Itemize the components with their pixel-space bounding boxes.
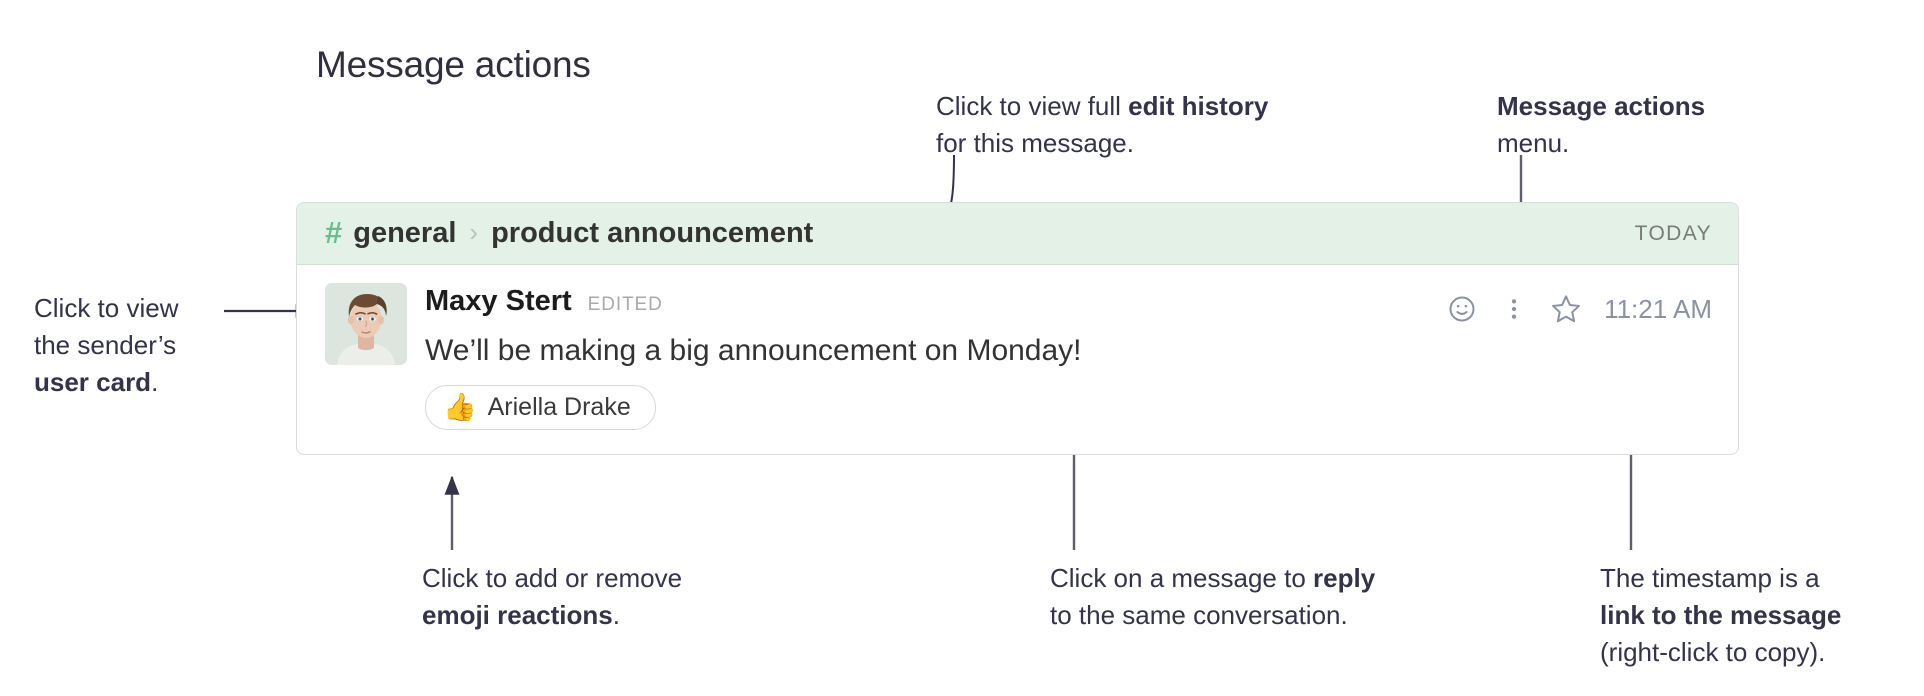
page-title: Message actions [316, 44, 591, 86]
annotation-message-actions-line1-bold: Message actions [1497, 91, 1705, 121]
annotation-user-card-line3-suffix: . [151, 367, 158, 397]
reaction-row: 👍 Ariella Drake [425, 385, 1712, 430]
annotation-edit-history-line1-bold: edit history [1128, 91, 1268, 121]
breadcrumb-topic[interactable]: product announcement [491, 217, 813, 250]
annotation-timestamp-line1: The timestamp is a [1600, 560, 1841, 597]
annotation-user-card-line3-bold: user card [34, 367, 151, 397]
emoji-reaction-icon[interactable] [1436, 287, 1488, 331]
message-text[interactable]: We’ll be making a big announcement on Mo… [425, 334, 1712, 368]
breadcrumb[interactable]: # general › product announcement [325, 217, 1635, 250]
reaction-pill[interactable]: 👍 Ariella Drake [425, 385, 656, 430]
annotation-reply-line1-prefix: Click on a message to [1050, 563, 1313, 593]
annotation-edit-history: Click to view full edit history for this… [936, 88, 1268, 162]
reaction-user-name: Ariella Drake [488, 393, 631, 422]
annotation-timestamp-line2-bold: link to the message [1600, 600, 1841, 630]
annotation-message-actions-line2: menu. [1497, 125, 1705, 162]
annotation-emoji-reactions: Click to add or remove emoji reactions. [422, 560, 682, 634]
chevron-right-icon: › [469, 217, 478, 248]
message-actions-menu-icon[interactable] [1488, 287, 1540, 331]
annotation-timestamp: The timestamp is a link to the message (… [1600, 560, 1841, 671]
edited-badge[interactable]: EDITED [588, 294, 663, 316]
message-row[interactable]: Maxy Stert EDITED We’ll be making a big … [297, 265, 1738, 430]
annotation-reply: Click on a message to reply to the same … [1050, 560, 1375, 634]
illustration-stage: Message actions Click to view full edit … [0, 0, 1924, 696]
annotation-edit-history-line2: for this message. [936, 125, 1268, 162]
star-icon[interactable] [1540, 287, 1592, 331]
annotation-timestamp-line3: (right-click to copy). [1600, 634, 1841, 671]
message-card-header: # general › product announcement TODAY [297, 203, 1738, 265]
annotation-emoji-reactions-line2-suffix: . [613, 600, 620, 630]
message-timestamp-link[interactable]: 11:21 AM [1604, 294, 1712, 325]
annotation-user-card-line2: the sender’s [34, 327, 178, 364]
message-card: # general › product announcement TODAY [296, 202, 1739, 455]
annotation-reply-line1-bold: reply [1313, 563, 1375, 593]
annotation-user-card: Click to view the sender’s user card. [34, 290, 178, 401]
message-actions-bar: 11:21 AM [1436, 287, 1712, 331]
annotation-emoji-reactions-line2-bold: emoji reactions [422, 600, 613, 630]
sender-name[interactable]: Maxy Stert [425, 285, 572, 318]
hash-icon: # [325, 217, 342, 248]
date-label: TODAY [1635, 222, 1712, 246]
annotation-emoji-reactions-line1: Click to add or remove [422, 560, 682, 597]
breadcrumb-stream[interactable]: general [353, 217, 456, 250]
annotation-message-actions: Message actions menu. [1497, 88, 1705, 162]
avatar[interactable] [325, 283, 407, 365]
annotation-reply-line2: to the same conversation. [1050, 597, 1375, 634]
thumbs-up-icon: 👍 [443, 394, 477, 421]
annotation-user-card-line1: Click to view [34, 290, 178, 327]
annotation-edit-history-line1-prefix: Click to view full [936, 91, 1128, 121]
